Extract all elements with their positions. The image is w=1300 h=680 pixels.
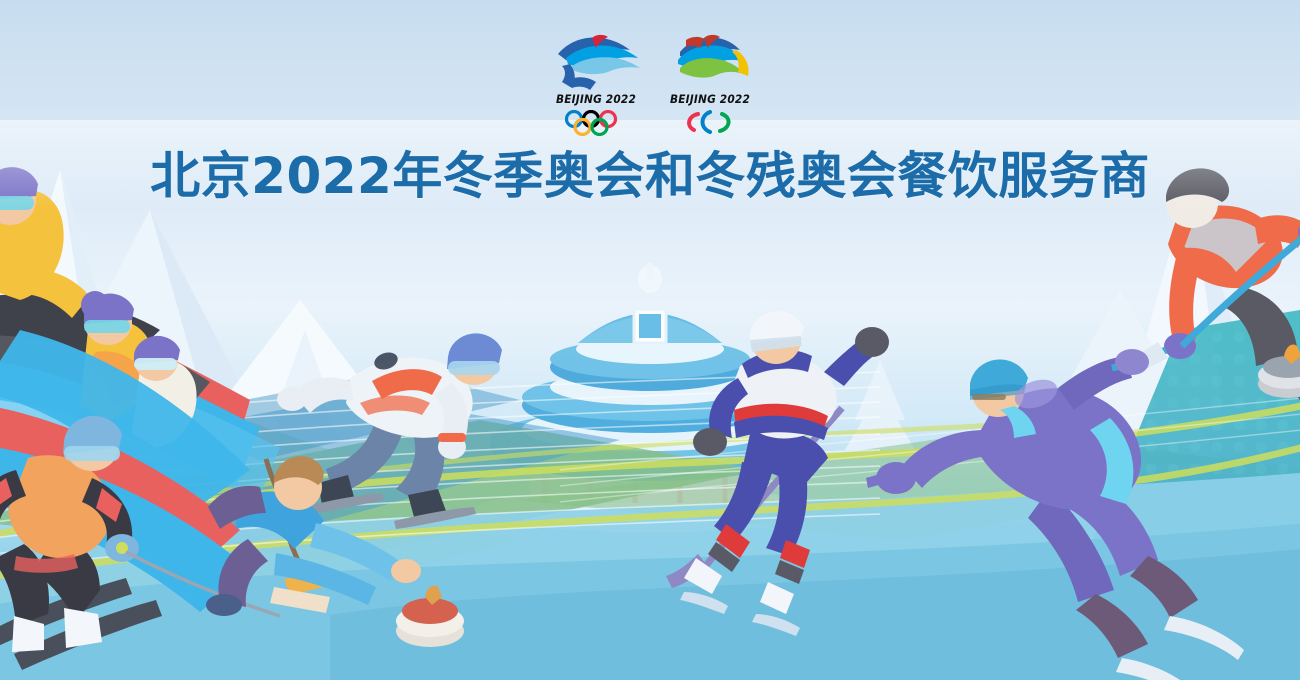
page-title: 北京2022年冬季奥会和冬残奥会餐饮服务商	[0, 148, 1300, 204]
olympic-wordmark: BEIJING 2022	[552, 92, 640, 106]
olympics-catering-banner: BEIJING 2022	[0, 0, 1300, 680]
olympic-emblem-icon	[548, 32, 644, 92]
agitos-icon	[682, 110, 738, 136]
olympic-rings-icon	[561, 110, 631, 136]
logo-group: BEIJING 2022	[548, 32, 758, 140]
paralympic-winter-games-beijing-2022-logo: BEIJING 2022	[662, 32, 758, 140]
paralympic-wordmark: BEIJING 2022	[666, 92, 754, 106]
olympic-winter-games-beijing-2022-logo: BEIJING 2022	[548, 32, 644, 140]
paralympic-emblem-icon	[662, 32, 758, 92]
